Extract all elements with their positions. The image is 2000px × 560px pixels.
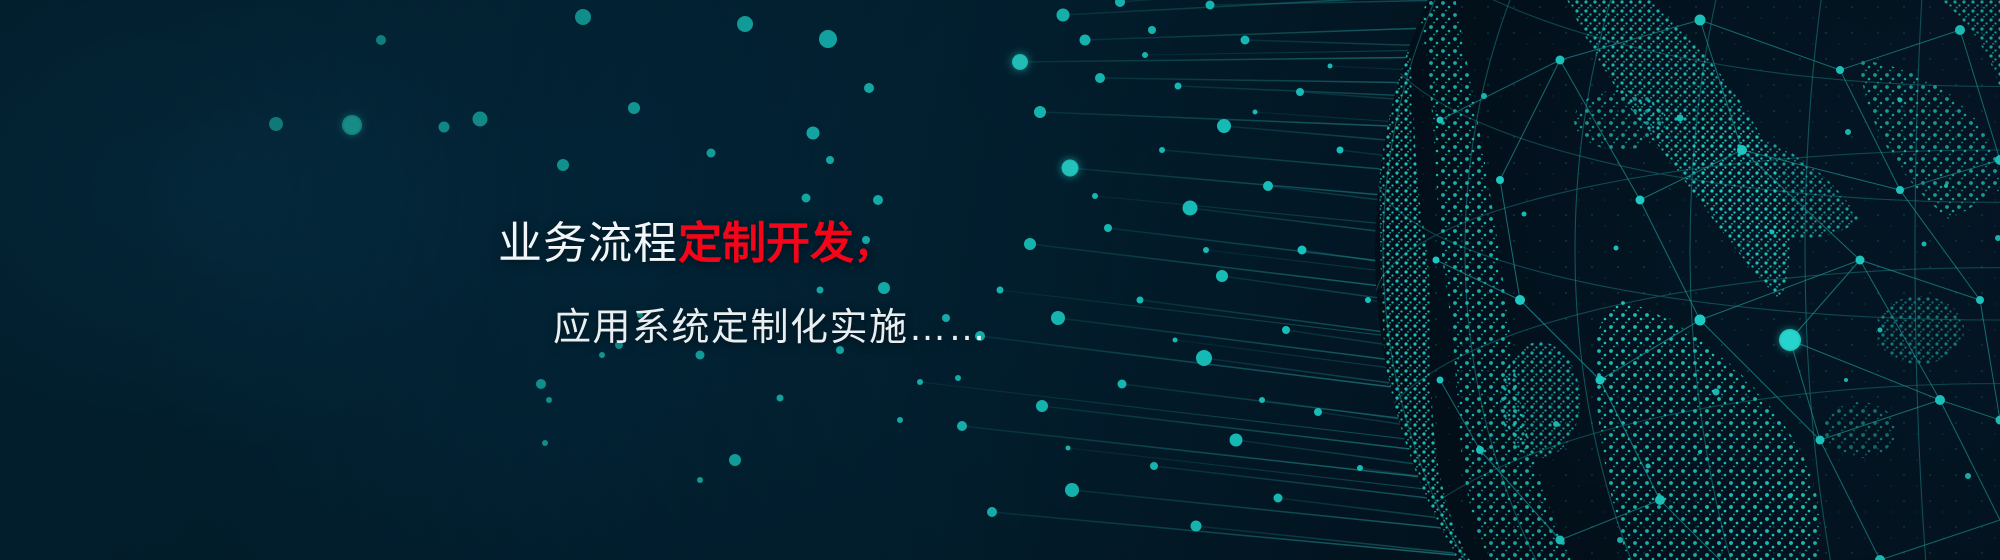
hero-banner: 业务流程定制开发， 应用系统定制化实施…… (0, 0, 2000, 560)
ray-endpoint-dots (917, 0, 1404, 532)
globe-sphere (1375, 0, 2000, 560)
scatter-dots-left (269, 9, 961, 483)
globe-network-graphic (0, 0, 2000, 560)
